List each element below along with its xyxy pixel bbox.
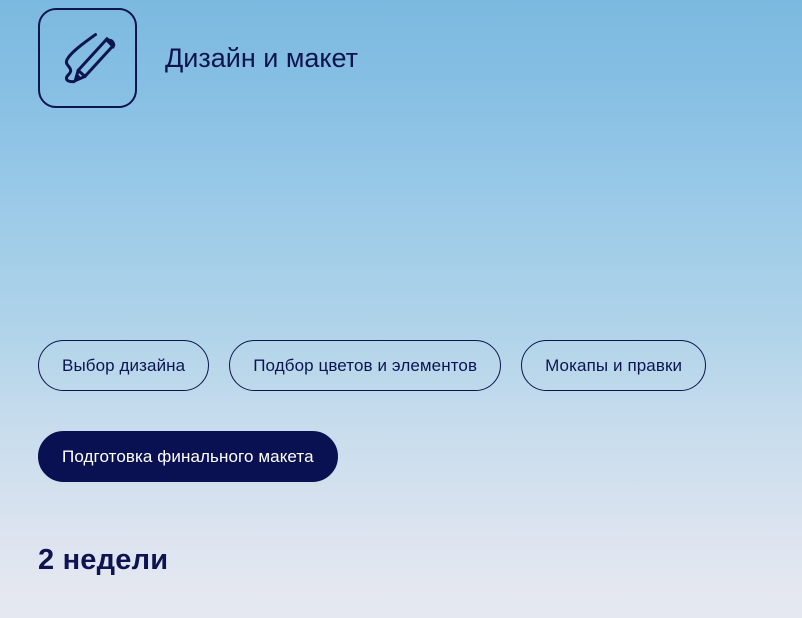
task-pill-podbor-cvetov[interactable]: Подбор цветов и элементов — [229, 340, 501, 391]
task-pill-podgotovka-finalnogo-maketa[interactable]: Подготовка финального макета — [38, 431, 338, 482]
pencil-signature-icon — [38, 8, 137, 108]
task-pill-vybor-dizayna[interactable]: Выбор дизайна — [38, 340, 209, 391]
duration-label: 2 недели — [38, 543, 168, 578]
task-pill-mokapy-i-pravki[interactable]: Мокапы и правки — [521, 340, 706, 391]
task-pill-list: Выбор дизайна Подбор цветов и элементов … — [38, 340, 788, 482]
page-title: Дизайн и макет — [165, 45, 358, 72]
stage-card: Дизайн и макет Выбор дизайна Подбор цвет… — [0, 0, 802, 618]
card-header: Дизайн и макет — [38, 8, 358, 108]
